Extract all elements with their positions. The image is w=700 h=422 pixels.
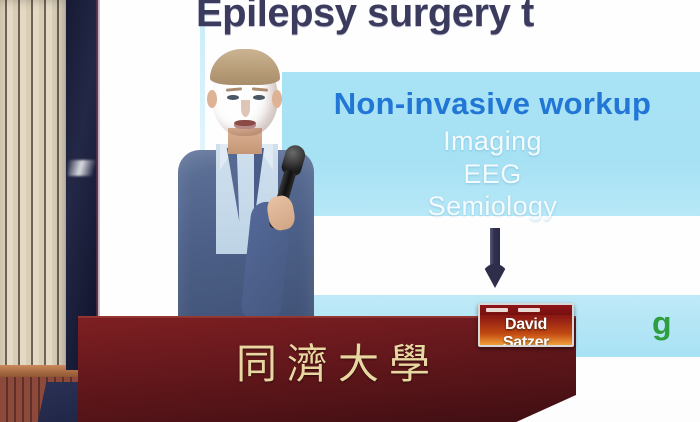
mouth [234, 120, 256, 129]
dark-wall-strip [66, 0, 98, 370]
slatted-wall-panel [0, 0, 66, 382]
presentation-photo: Epilepsy surgery t Non-invasive workup I… [0, 0, 700, 422]
name-placard: David Satzer [478, 303, 574, 347]
placard-logo-left-icon [486, 308, 508, 312]
placard-speaker-name: David Satzer [480, 316, 572, 347]
slide-green-text: g [652, 305, 672, 342]
slide-title: Epilepsy surgery t [196, 0, 700, 36]
placard-logo-band [480, 305, 572, 315]
ear-right [272, 90, 282, 108]
placard-logo-right-icon [518, 308, 540, 312]
speaker-figure [176, 52, 316, 332]
slide-item-semiology: Semiology [282, 191, 700, 222]
slide-item-eeg: EEG [282, 159, 700, 190]
wall-light-glint [68, 160, 96, 176]
slide-heading: Non-invasive workup [282, 86, 700, 122]
eye-left [227, 95, 239, 100]
slide-item-imaging: Imaging [282, 126, 700, 157]
arrow-shaft [490, 228, 500, 268]
hair [210, 49, 280, 85]
nose [241, 100, 250, 117]
jacket-lapel-left [205, 147, 240, 222]
ear-left [207, 90, 217, 108]
down-arrow-icon [482, 228, 508, 290]
eye-right [253, 95, 265, 100]
slide-upper-box: Non-invasive workup Imaging EEG Semiolog… [282, 72, 700, 216]
arrow-head [482, 264, 508, 288]
podium-institution-text: 同濟大學 [188, 330, 488, 390]
